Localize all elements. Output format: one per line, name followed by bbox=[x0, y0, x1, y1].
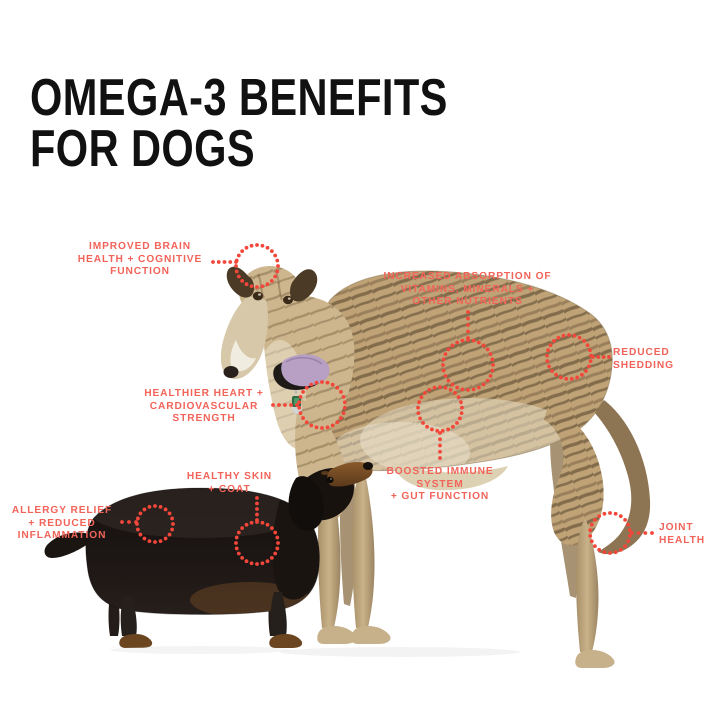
callout-label-healthy-skin: HEALTHY SKIN + COAT bbox=[172, 471, 287, 496]
callout-label-improved-brain: IMPROVED BRAIN HEALTH + COGNITIVE FUNCTI… bbox=[70, 241, 210, 279]
callout-label-increased-absorption: INCREASED ABSORPTION OF VITAMINS, MINERA… bbox=[375, 271, 560, 309]
title-line-2: FOR DOGS bbox=[30, 124, 526, 175]
infographic-poster: OMEGA-3 BENEFITSFOR DOGS IMPROVED BRAIN … bbox=[0, 0, 713, 713]
callout-label-healthier-heart: HEALTHIER HEART + CARDIOVASCULAR STRENGT… bbox=[138, 388, 270, 426]
callout-label-allergy-relief: ALLERGY RELIEF + REDUCED INFLAMMATION bbox=[3, 505, 121, 543]
callout-label-boosted-immune: BOOSTED IMMUNE SYSTEM + GUT FUNCTION bbox=[375, 466, 505, 504]
callout-label-reduced-shedding: REDUCED SHEDDING bbox=[613, 347, 713, 372]
title-line-1: OMEGA-3 BENEFITS bbox=[30, 73, 526, 124]
page-title: OMEGA-3 BENEFITSFOR DOGS bbox=[30, 73, 526, 175]
callout-label-joint-health: JOINT HEALTH bbox=[659, 522, 713, 547]
